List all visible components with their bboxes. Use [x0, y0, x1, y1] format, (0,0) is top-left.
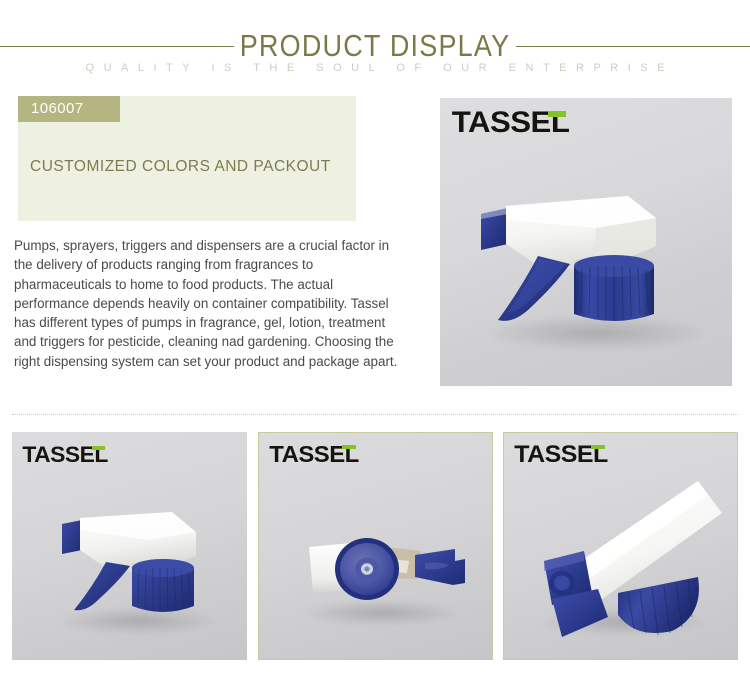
trigger-sprayer-illustration: [522, 465, 732, 640]
brand-logo-accent-bar: [548, 111, 566, 117]
thumbnail-closeup-view[interactable]: TASSEL: [503, 432, 738, 660]
brand-logo-accent-bar: [342, 445, 356, 449]
trigger-sprayer-illustration: [478, 194, 708, 344]
hero-product-image[interactable]: TASSEL: [440, 98, 732, 386]
section-divider: [12, 414, 738, 415]
brand-logo: TASSEL: [516, 443, 606, 467]
product-intro-section: 106007 CUSTOMIZED COLORS AND PACKOUT Pum…: [0, 92, 750, 392]
trigger-sprayer-illustration: [305, 537, 485, 607]
product-description-text: Pumps, sprayers, triggers and dispensers…: [14, 236, 406, 371]
page-title: PRODUCT DISPLAY: [234, 29, 517, 64]
title-rule-left: [0, 46, 234, 47]
trigger-sprayer-illustration: [60, 510, 230, 628]
brand-logo: TASSEL: [271, 443, 357, 466]
title-row: PRODUCT DISPLAY: [0, 28, 750, 64]
page-header: PRODUCT DISPLAY QUALITY IS THE SOUL OF O…: [0, 0, 750, 88]
product-description: Pumps, sprayers, triggers and dispensers…: [14, 236, 406, 371]
brand-logo-accent-bar: [591, 445, 605, 449]
product-display-page: PRODUCT DISPLAY QUALITY IS THE SOUL OF O…: [0, 0, 750, 695]
title-rule-right: [516, 46, 750, 47]
thumbnail-cap-top-view[interactable]: TASSEL: [258, 432, 493, 660]
page-subtitle: QUALITY IS THE SOUL OF OUR ENTERPRISE: [0, 62, 750, 74]
brand-logo-accent-bar: [92, 446, 105, 450]
product-code-badge: 106007: [18, 96, 120, 122]
product-thumbnail-row: TASSEL: [0, 432, 750, 662]
brand-logo: TASSEL: [24, 444, 106, 466]
thumbnail-angled-view[interactable]: TASSEL: [12, 432, 247, 660]
product-card-heading: CUSTOMIZED COLORS AND PACKOUT: [30, 158, 350, 176]
brand-logo: TASSEL: [454, 108, 567, 138]
